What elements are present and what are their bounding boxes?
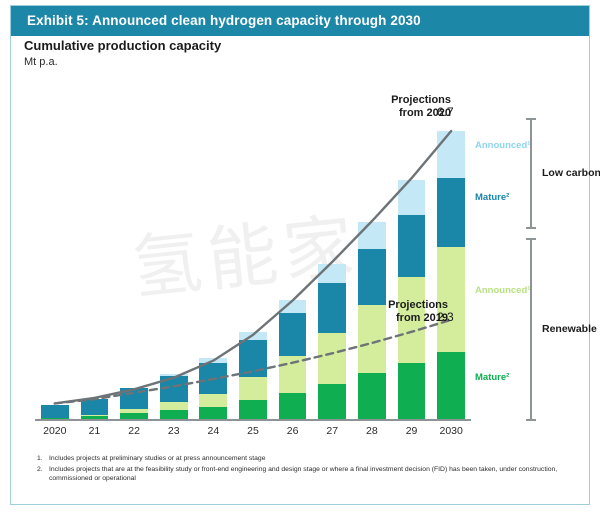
x-axis-label-23: 23 [154,425,194,437]
bar-2030 [437,131,465,418]
bar-segment [398,180,426,214]
bar-segment [279,393,307,419]
bar-segment [437,178,465,247]
bracket-low-carbon-cap-bottom [526,227,536,229]
series-label-renewable-announced: Announced¹ [475,285,530,296]
x-axis-label-24: 24 [194,425,234,437]
bar-segment [398,215,426,277]
bar-24 [199,358,227,418]
exhibit-header-bar: Exhibit 5: Announced clean hydrogen capa… [11,6,589,36]
bracket-low-carbon [530,118,532,228]
bar-segment [318,264,346,283]
x-axis-labels: 20202122232425262728292030 [35,425,471,441]
bar-25 [239,332,267,419]
bar-segment [199,363,227,394]
bar-segment [358,222,386,249]
bar-segment [41,405,69,418]
x-axis-label-2020: 2020 [35,425,75,437]
footnote-number: 2. [37,465,43,475]
annotation-projections-2019: Projections from 2019 [356,299,448,325]
series-label-low-carbon-mature: Mature² [475,192,509,203]
bar-segment [81,399,109,415]
bar-segment [160,402,188,410]
value-label-2-3: 2.3 [437,310,454,324]
x-axis-label-25: 25 [233,425,273,437]
series-label-low-carbon-announced: Announced¹ [475,140,530,151]
chart-title: Cumulative production capacity [24,38,221,53]
group-label-low-carbon: Low carbon [542,167,600,179]
bar-segment [279,313,307,356]
bar-segment [358,249,386,305]
bar-segment [199,407,227,419]
footnote-text: Includes projects that are at the feasib… [49,466,557,483]
bar-23 [160,374,188,418]
footnote-text: Includes projects at preliminary studies… [49,455,265,462]
bracket-renewable-cap-top [526,238,536,240]
bar-segment [239,377,267,401]
footnote-1: 1.Includes projects at preliminary studi… [37,454,567,464]
bar-segment [120,388,148,409]
chart-unit-label: Mt p.a. [24,56,58,68]
bar-segment [279,356,307,392]
x-axis-label-26: 26 [273,425,313,437]
bar-segment [437,131,465,178]
plot-area [35,101,471,421]
x-axis-label-21: 21 [75,425,115,437]
annotation-projections-2019-line1: Projections [356,299,448,312]
x-axis-label-27: 27 [312,425,352,437]
series-label-renewable-mature: Mature² [475,372,509,383]
bar-22 [120,388,148,419]
x-axis-label-22: 22 [114,425,154,437]
bracket-renewable-cap-bottom [526,419,536,421]
annotation-projections-2020: Projections from 2020 [351,94,451,120]
footnotes: 1.Includes projects at preliminary studi… [37,454,567,485]
value-label-6-7: 6.7 [437,105,454,119]
bar-segment [239,340,267,376]
annotation-projections-2020-line2: from 2020 [351,107,451,120]
bar-21 [81,399,109,419]
bar-segment [239,332,267,341]
bracket-renewable [530,238,532,420]
footnote-2: 2.Includes projects that are at the feas… [37,465,567,484]
bar-segment [318,333,346,384]
annotation-projections-2019-line2: from 2019 [356,312,448,325]
bar-segment [398,363,426,419]
group-label-renewable: Renewable [542,323,597,335]
bar-segment [239,400,267,418]
bar-segment [199,394,227,407]
bar-2020 [41,405,69,419]
bar-segment [160,376,188,402]
x-axis-label-29: 29 [392,425,432,437]
exhibit-card: Exhibit 5: Announced clean hydrogen capa… [10,5,590,505]
bar-27 [318,264,346,418]
bracket-low-carbon-cap-top [526,118,536,120]
bar-segment [358,373,386,418]
bar-segment [318,283,346,332]
bar-group [35,101,471,419]
bar-segment [160,410,188,419]
exhibit-title: Exhibit 5: Announced clean hydrogen capa… [27,13,421,28]
annotation-projections-2020-line1: Projections [351,94,451,107]
x-axis-label-2030: 2030 [431,425,471,437]
bar-26 [279,300,307,419]
bar-segment [437,352,465,419]
x-axis-line [35,419,471,422]
bar-segment [279,300,307,314]
bar-segment [318,384,346,418]
x-axis-label-28: 28 [352,425,392,437]
footnote-number: 1. [37,454,43,464]
